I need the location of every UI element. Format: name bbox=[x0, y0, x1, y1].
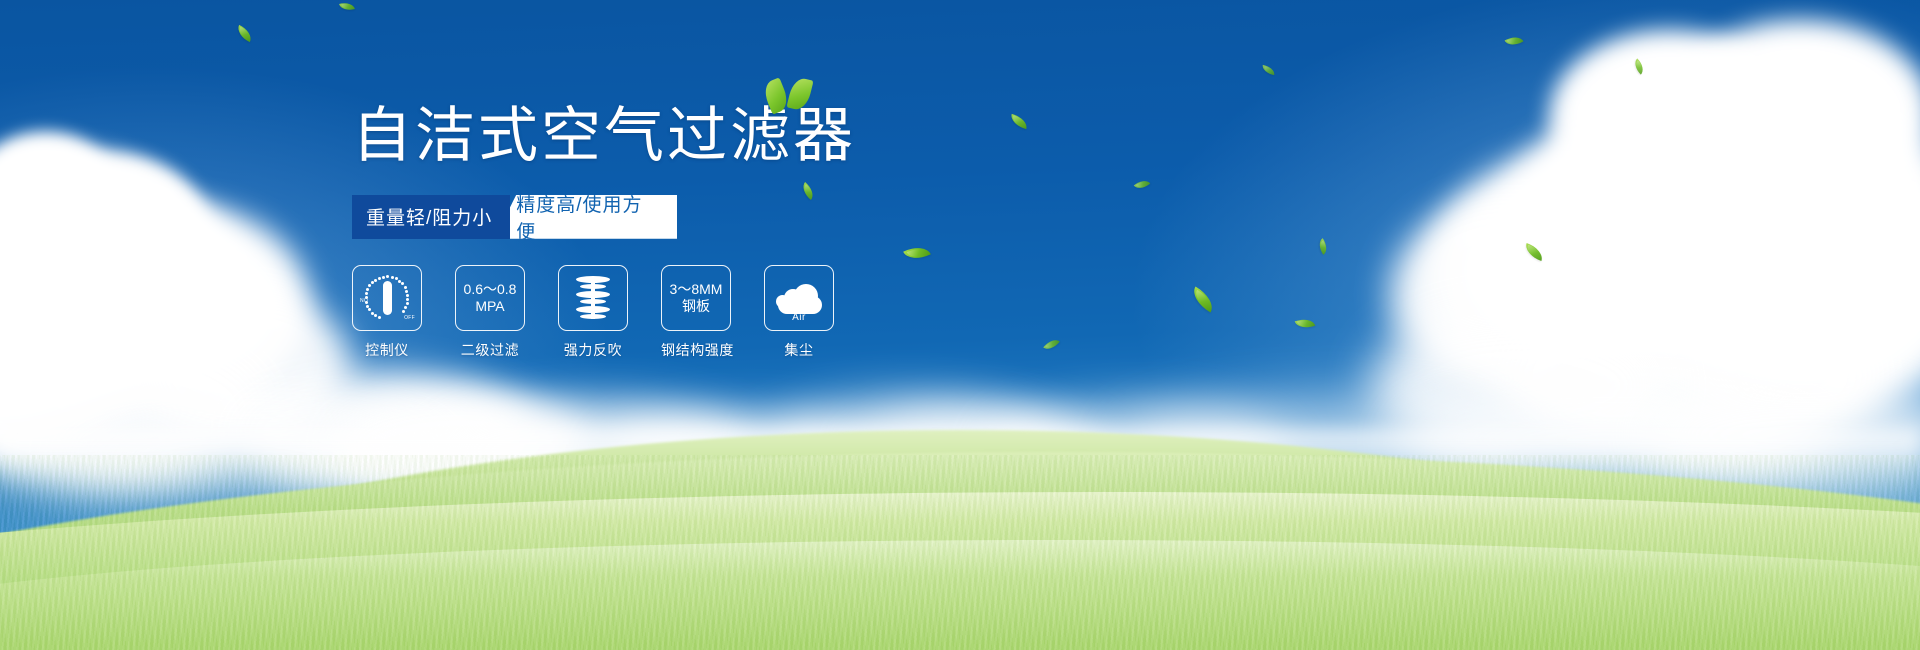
gauge-icon: NO OFF bbox=[361, 273, 413, 323]
air-label: Air bbox=[772, 312, 826, 323]
feature-value: 0.6～0.8 MPA bbox=[464, 281, 517, 315]
title-block: 自洁式空气过滤器 bbox=[352, 104, 856, 169]
feature-label: 钢结构强度 bbox=[661, 340, 731, 360]
feature-label: 强力反吹 bbox=[558, 340, 628, 360]
feature-item-steel[interactable]: 3～8MM 钢板 钢结构强度 bbox=[661, 265, 731, 360]
feature-item-control[interactable]: NO OFF 控制仪 bbox=[352, 265, 422, 360]
filter-stack-icon bbox=[571, 274, 615, 322]
page-title: 自洁式空气过滤器 bbox=[352, 104, 856, 169]
feature-box: 3～8MM 钢板 bbox=[661, 265, 731, 331]
feature-box: NO OFF bbox=[352, 265, 422, 331]
feature-item-backflush[interactable]: 强力反吹 bbox=[558, 265, 628, 360]
feature-label: 二级过滤 bbox=[455, 340, 525, 360]
hero-banner: 自洁式空气过滤器 重量轻/阻力小 精度高/使用方便 NO OFF 控制仪 bbox=[0, 0, 1920, 650]
feature-label: 集尘 bbox=[764, 340, 834, 360]
tagline-badge: 重量轻/阻力小 精度高/使用方便 bbox=[352, 195, 677, 239]
feature-box bbox=[558, 265, 628, 331]
banner-content: 自洁式空气过滤器 重量轻/阻力小 精度高/使用方便 NO OFF 控制仪 bbox=[352, 104, 1072, 360]
feature-box: 0.6～0.8 MPA bbox=[455, 265, 525, 331]
feature-label: 控制仪 bbox=[352, 340, 422, 360]
sprout-leaf-icon bbox=[764, 78, 818, 112]
feature-value: 3～8MM 钢板 bbox=[670, 281, 723, 315]
feature-item-pressure[interactable]: 0.6～0.8 MPA 二级过滤 bbox=[455, 265, 525, 360]
feature-item-dust[interactable]: Air 集尘 bbox=[764, 265, 834, 360]
tagline-right: 精度高/使用方便 bbox=[494, 195, 677, 239]
air-cloud-icon: Air bbox=[772, 276, 826, 320]
feature-list: NO OFF 控制仪 0.6～0.8 MPA 二级过滤 bbox=[352, 265, 1072, 360]
feature-box: Air bbox=[764, 265, 834, 331]
gauge-label-off: OFF bbox=[404, 315, 415, 321]
tagline-left: 重量轻/阻力小 bbox=[352, 195, 510, 239]
